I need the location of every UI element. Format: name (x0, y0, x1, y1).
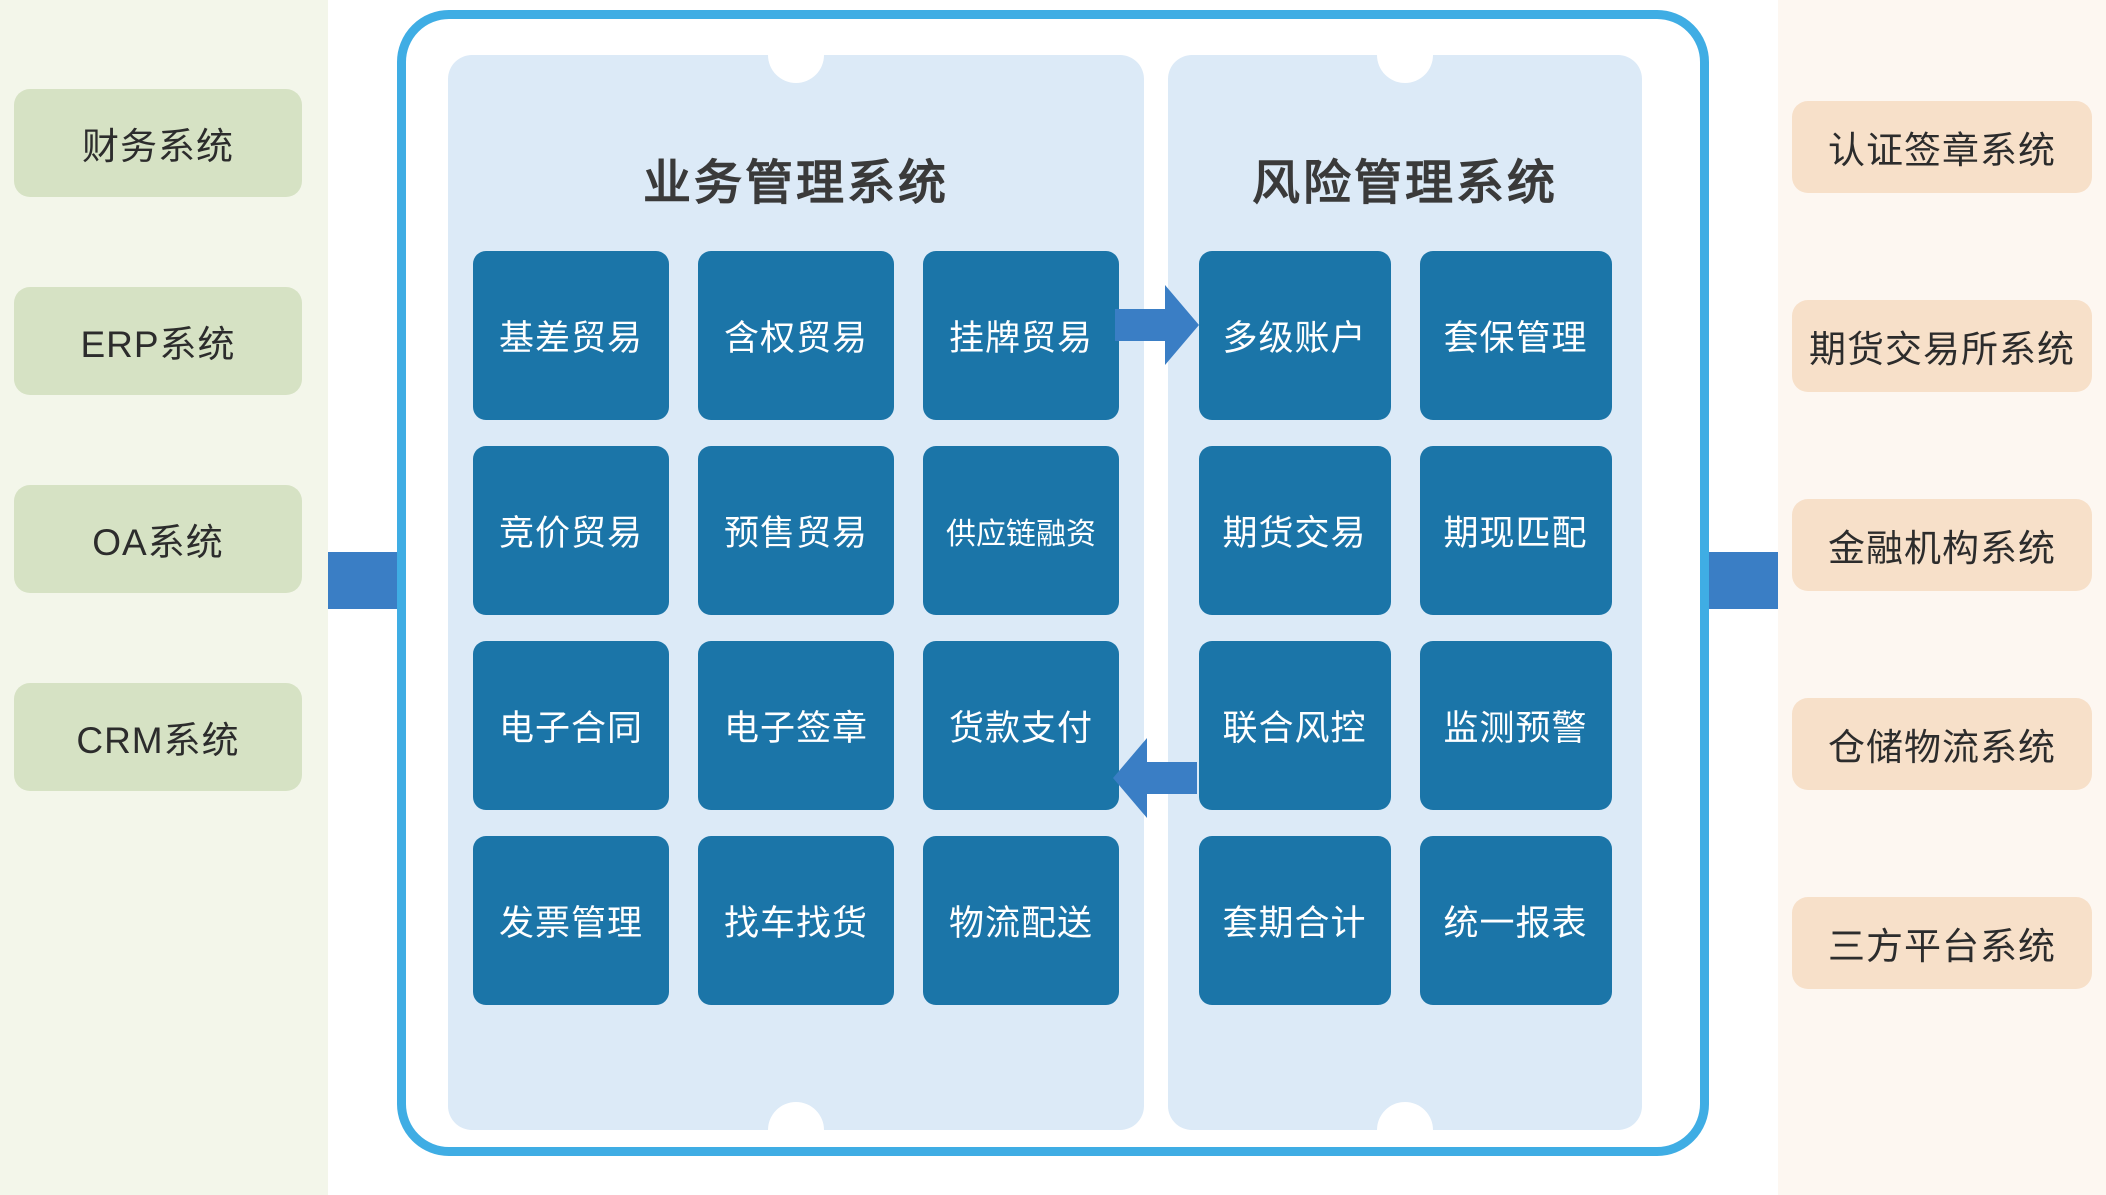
business-tile-7[interactable]: 电子合同 (473, 641, 669, 810)
left-system-box-1[interactable]: 财务系统 (14, 89, 302, 197)
left-system-label-4: CRM系统 (76, 710, 239, 764)
right-system-box-3[interactable]: 金融机构系统 (1792, 499, 2092, 591)
business-tile-1[interactable]: 基差贸易 (473, 251, 669, 420)
left-system-label-3: OA系统 (92, 512, 223, 566)
right-system-label-2: 期货交易所系统 (1809, 319, 2075, 373)
risk-tile-7[interactable]: 套期合计 (1199, 836, 1391, 1005)
risk-tile-8[interactable]: 统一报表 (1420, 836, 1612, 1005)
right-system-label-3: 金融机构系统 (1828, 518, 2056, 572)
right-system-label-4: 仓储物流系统 (1828, 717, 2056, 771)
arrow-left-icon (1113, 738, 1197, 818)
right-system-label-1: 认证签章系统 (1828, 120, 2056, 174)
arrow-right-icon (1115, 285, 1199, 365)
right-system-box-2[interactable]: 期货交易所系统 (1792, 300, 2092, 392)
left-system-label-1: 财务系统 (82, 116, 234, 170)
business-tile-4[interactable]: 竞价贸易 (473, 446, 669, 615)
risk-tile-4[interactable]: 期现匹配 (1420, 446, 1612, 615)
risk-tile-grid: 多级账户 套保管理 期货交易 期现匹配 联合风控 监测预警 套期合计 统一报表 (1168, 251, 1642, 1005)
business-tile-5[interactable]: 预售贸易 (698, 446, 894, 615)
risk-tile-2[interactable]: 套保管理 (1420, 251, 1612, 420)
risk-tile-6[interactable]: 监测预警 (1420, 641, 1612, 810)
business-tile-8[interactable]: 电子签章 (698, 641, 894, 810)
left-system-box-4[interactable]: CRM系统 (14, 683, 302, 791)
right-system-box-4[interactable]: 仓储物流系统 (1792, 698, 2092, 790)
risk-tile-3[interactable]: 期货交易 (1199, 446, 1391, 615)
business-tile-11[interactable]: 找车找货 (698, 836, 894, 1005)
right-system-box-5[interactable]: 三方平台系统 (1792, 897, 2092, 989)
left-connector (328, 552, 397, 609)
business-tile-10[interactable]: 发票管理 (473, 836, 669, 1005)
risk-tile-1[interactable]: 多级账户 (1199, 251, 1391, 420)
business-panel-title: 业务管理系统 (448, 143, 1144, 213)
right-system-box-1[interactable]: 认证签章系统 (1792, 101, 2092, 193)
business-tile-9[interactable]: 货款支付 (923, 641, 1119, 810)
business-management-panel: 业务管理系统 基差贸易 含权贸易 挂牌贸易 竞价贸易 预售贸易 供应链融资 电子… (448, 55, 1144, 1130)
left-system-box-3[interactable]: OA系统 (14, 485, 302, 593)
diagram-canvas: 财务系统 ERP系统 OA系统 CRM系统 认证签章系统 期货交易所系统 金融机… (0, 0, 2106, 1195)
risk-tile-5[interactable]: 联合风控 (1199, 641, 1391, 810)
business-tile-3[interactable]: 挂牌贸易 (923, 251, 1119, 420)
left-system-box-2[interactable]: ERP系统 (14, 287, 302, 395)
left-system-label-2: ERP系统 (80, 314, 235, 368)
risk-panel-title: 风险管理系统 (1168, 143, 1642, 213)
right-connector (1709, 552, 1778, 609)
business-tile-6[interactable]: 供应链融资 (923, 446, 1119, 615)
right-system-label-5: 三方平台系统 (1828, 916, 2056, 970)
business-tile-2[interactable]: 含权贸易 (698, 251, 894, 420)
risk-management-panel: 风险管理系统 多级账户 套保管理 期货交易 期现匹配 联合风控 监测预警 套期合… (1168, 55, 1642, 1130)
platform-container: 业务管理系统 基差贸易 含权贸易 挂牌贸易 竞价贸易 预售贸易 供应链融资 电子… (397, 10, 1709, 1156)
business-tile-12[interactable]: 物流配送 (923, 836, 1119, 1005)
business-tile-grid: 基差贸易 含权贸易 挂牌贸易 竞价贸易 预售贸易 供应链融资 电子合同 电子签章… (448, 251, 1144, 1005)
